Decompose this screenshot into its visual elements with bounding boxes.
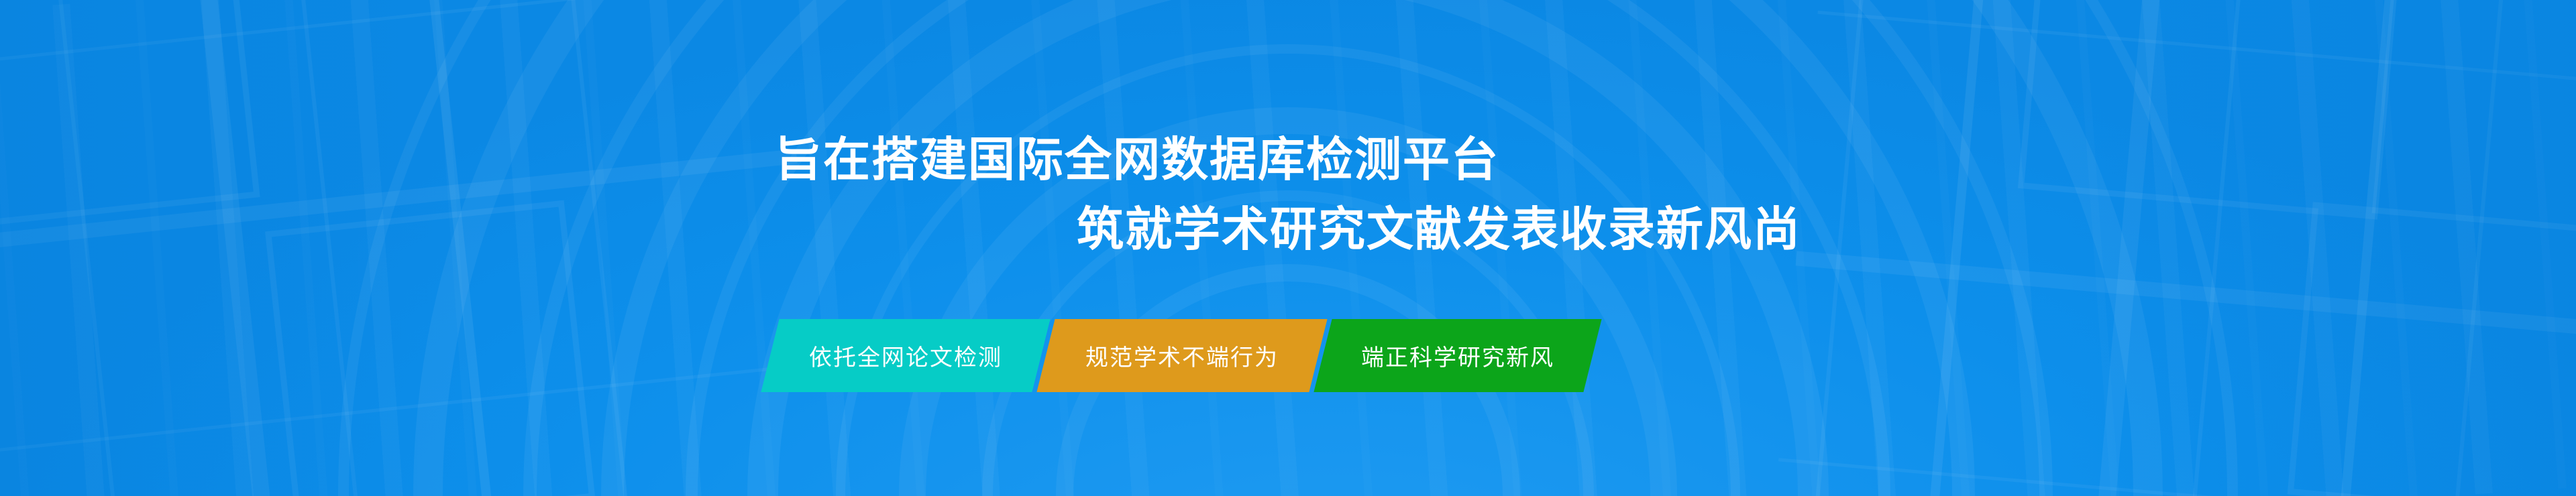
- headline: 旨在搭建国际全网数据库检测平台 筑就学术研究文献发表收录新风尚: [0, 125, 2576, 264]
- feature-tag-1[interactable]: 依托全网论文检测: [761, 319, 1050, 392]
- banner-content: 旨在搭建国际全网数据库检测平台 筑就学术研究文献发表收录新风尚 依托全网论文检测…: [0, 0, 2576, 496]
- feature-tag-1-label: 依托全网论文检测: [809, 339, 1002, 372]
- feature-tag-3-label: 端正科学研究新风: [1361, 339, 1554, 372]
- headline-line-2: 筑就学术研究文献发表收录新风尚: [0, 194, 2576, 264]
- feature-tag-bar: 依托全网论文检测 规范学术不端行为 端正科学研究新风: [770, 319, 1593, 392]
- promo-banner: 旨在搭建国际全网数据库检测平台 筑就学术研究文献发表收录新风尚 依托全网论文检测…: [0, 0, 2576, 496]
- headline-line-1: 旨在搭建国际全网数据库检测平台: [0, 125, 2576, 194]
- feature-tag-2[interactable]: 规范学术不端行为: [1036, 319, 1327, 392]
- feature-tag-3[interactable]: 端正科学研究新风: [1313, 319, 1601, 392]
- feature-tag-2-label: 规范学术不端行为: [1085, 339, 1279, 372]
